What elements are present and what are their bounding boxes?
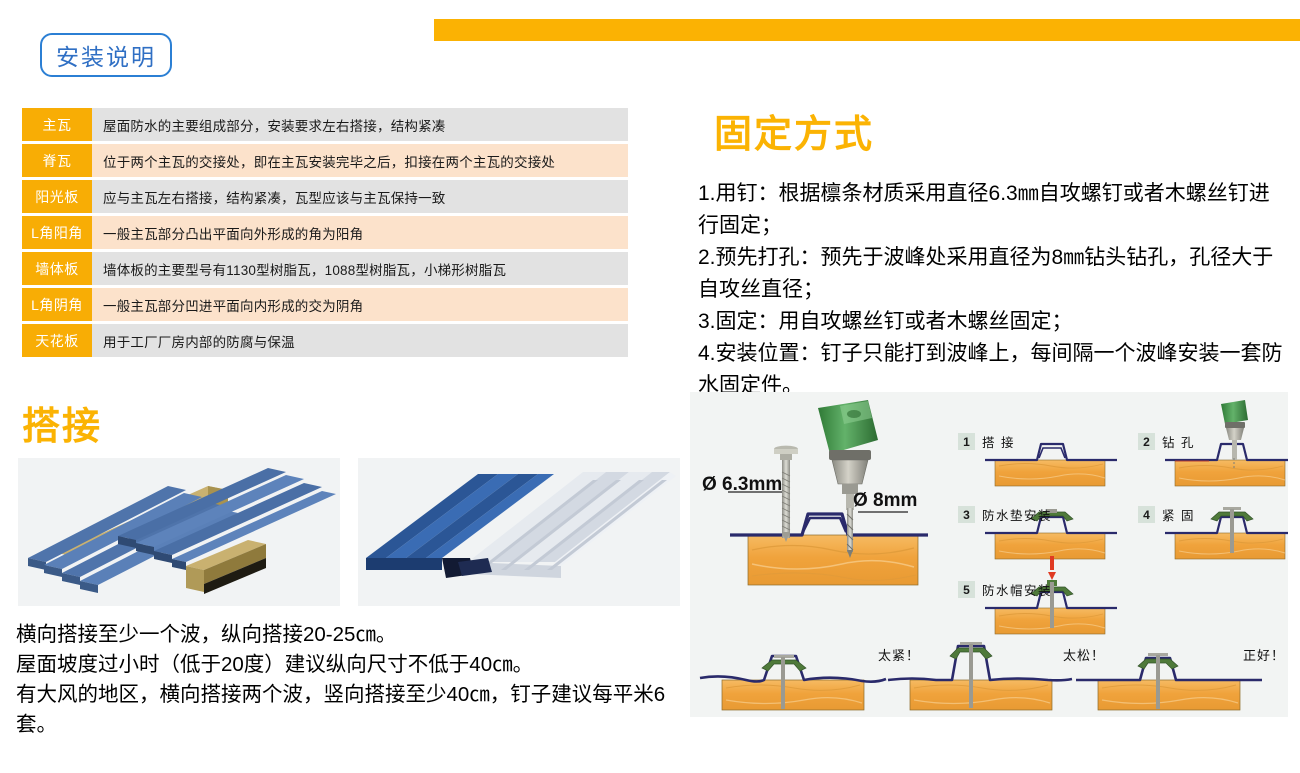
diagram-step-2: 2 钻 孔 xyxy=(1138,432,1195,451)
table-row: 脊瓦 位于两个主瓦的交接处，即在主瓦安装完毕之后，扣接在两个主瓦的交接处 xyxy=(22,144,628,177)
row-label: 墙体板 xyxy=(22,252,92,285)
lapping-note-3: 有大风的地区，横向搭接两个波，竖向搭接至少40㎝，钉子建议每平米6套。 xyxy=(16,680,696,740)
step-number-badge: 3 xyxy=(958,506,975,523)
page-title: 安装说明 xyxy=(56,38,156,72)
photo-lapping-blue-and-clear xyxy=(358,458,680,606)
row-description: 屋面防水的主要组成部分，安装要求左右搭接，结构紧凑 xyxy=(92,108,628,141)
table-row: L角阴角 一般主瓦部分凹进平面向内形成的交为阴角 xyxy=(22,288,628,321)
step-label: 防水垫安装 xyxy=(982,505,1052,524)
row-description: 墙体板的主要型号有1130型树脂瓦，1088型树脂瓦，小梯形树脂瓦 xyxy=(92,252,628,285)
lapping-notes: 横向搭接至少一个波，纵向搭接20-25㎝。 屋面坡度过小时（低于20度）建议纵向… xyxy=(16,620,696,740)
dimension-label-drill: Ø 8mm xyxy=(853,490,917,512)
fixing-item-2: 2.预先打孔：预先于波峰处采用直径为8㎜钻头钻孔，孔径大于自攻丝直径； xyxy=(698,242,1284,306)
section-heading-lapping: 搭接 xyxy=(22,395,102,450)
step-number-badge: 4 xyxy=(1138,506,1155,523)
row-description: 一般主瓦部分凹进平面向内形成的交为阴角 xyxy=(92,288,628,321)
lapping-note-1: 横向搭接至少一个波，纵向搭接20-25㎝。 xyxy=(16,620,696,650)
step-label: 紧 固 xyxy=(1162,505,1195,524)
step-number-badge: 1 xyxy=(958,433,975,450)
fixing-item-3: 3.固定：用自攻螺丝钉或者木螺丝固定； xyxy=(698,306,1284,338)
roof-sheet-illustration-1 xyxy=(18,458,340,606)
lapping-note-2: 屋面坡度过小时（低于20度）建议纵向尺寸不低于40㎝。 xyxy=(16,650,696,680)
table-row: 天花板 用于工厂厂房内部的防腐与保温 xyxy=(22,324,628,357)
fit-label-too-tight: 太紧！ xyxy=(878,645,920,664)
top-accent-banner xyxy=(434,19,1300,41)
fit-label-just-right: 正好！ xyxy=(1243,645,1285,664)
page-title-badge: 安装说明 xyxy=(40,33,172,77)
step-label: 钻 孔 xyxy=(1162,432,1195,451)
row-description: 应与主瓦左右搭接，结构紧凑，瓦型应该与主瓦保持一致 xyxy=(92,180,628,213)
step-number-badge: 2 xyxy=(1138,433,1155,450)
step-label: 防水帽安装 xyxy=(982,580,1052,599)
row-label: 脊瓦 xyxy=(22,144,92,177)
row-label: 阳光板 xyxy=(22,180,92,213)
table-row: 主瓦 屋面防水的主要组成部分，安装要求左右搭接，结构紧凑 xyxy=(22,108,628,141)
spec-table: 主瓦 屋面防水的主要组成部分，安装要求左右搭接，结构紧凑 脊瓦 位于两个主瓦的交… xyxy=(22,108,628,360)
roof-sheet-illustration-2 xyxy=(358,458,680,606)
row-description: 用于工厂厂房内部的防腐与保温 xyxy=(92,324,628,357)
diagram-step-1: 1 搭 接 xyxy=(958,432,1015,451)
photo-lapping-on-purlin xyxy=(18,458,340,606)
diagram-step-3: 3 防水垫安装 xyxy=(958,505,1052,524)
table-row: 阳光板 应与主瓦左右搭接，结构紧凑，瓦型应该与主瓦保持一致 xyxy=(22,180,628,213)
step-label: 搭 接 xyxy=(982,432,1015,451)
installation-diagram-panel: Ø 6.3mm Ø 8mm 1 搭 接 2 钻 孔 3 防水垫安装 4 紧 固 … xyxy=(690,392,1288,717)
row-label: L角阴角 xyxy=(22,288,92,321)
row-description: 位于两个主瓦的交接处，即在主瓦安装完毕之后，扣接在两个主瓦的交接处 xyxy=(92,144,628,177)
fit-label-too-loose: 太松！ xyxy=(1063,645,1105,664)
dimension-label-screw: Ø 6.3mm xyxy=(702,474,782,496)
table-row: 墙体板 墙体板的主要型号有1130型树脂瓦，1088型树脂瓦，小梯形树脂瓦 xyxy=(22,252,628,285)
fixing-item-1: 1.用钉：根据檩条材质采用直径6.3㎜自攻螺钉或者木螺丝钉进行固定； xyxy=(698,178,1284,242)
section-heading-fixing: 固定方式 xyxy=(714,103,874,158)
row-label: 主瓦 xyxy=(22,108,92,141)
row-description: 一般主瓦部分凸出平面向外形成的角为阳角 xyxy=(92,216,628,249)
row-label: L角阳角 xyxy=(22,216,92,249)
fixing-instructions: 1.用钉：根据檩条材质采用直径6.3㎜自攻螺钉或者木螺丝钉进行固定； 2.预先打… xyxy=(698,178,1284,402)
table-row: L角阳角 一般主瓦部分凸出平面向外形成的角为阳角 xyxy=(22,216,628,249)
row-label: 天花板 xyxy=(22,324,92,357)
diagram-step-5: 5 防水帽安装 xyxy=(958,580,1052,599)
diagram-step-4: 4 紧 固 xyxy=(1138,505,1195,524)
step-number-badge: 5 xyxy=(958,581,975,598)
